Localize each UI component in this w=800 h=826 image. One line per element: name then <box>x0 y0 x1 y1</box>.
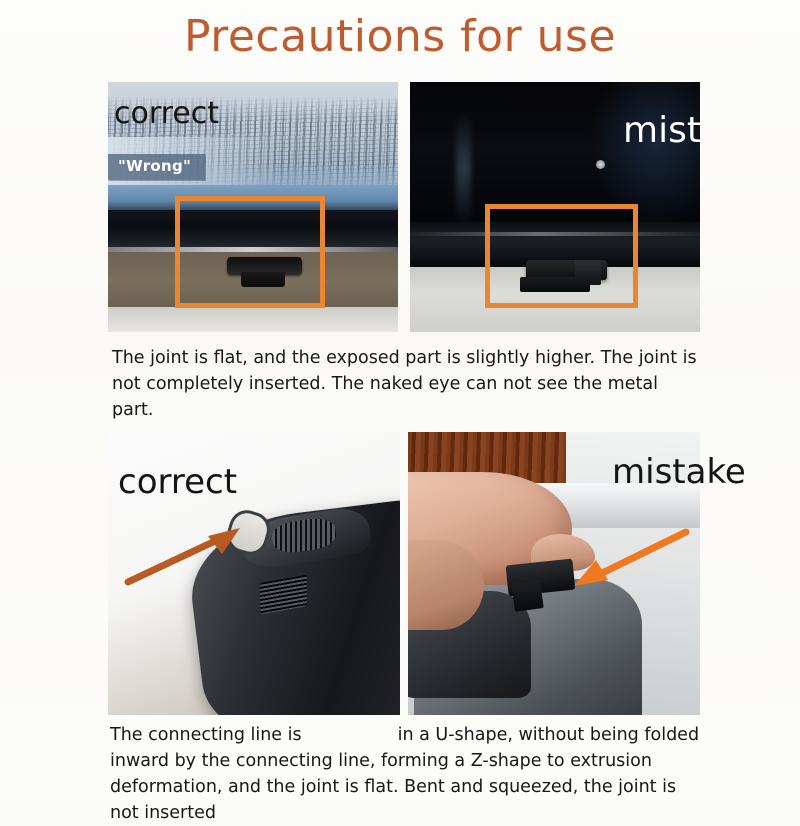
label-mistake-top: mistake <box>623 110 700 151</box>
label-correct-bottom: correct <box>118 462 237 502</box>
wrong-badge: "Wrong" <box>108 154 205 180</box>
arrow-down-left-icon <box>566 524 694 596</box>
highlight-box-top-left <box>175 196 325 308</box>
z-shape-connector-cable <box>511 580 544 612</box>
page-title: Precautions for use <box>0 12 800 62</box>
screen-dot <box>596 160 605 169</box>
arrow-right-icon <box>122 520 252 590</box>
caption-bottom-line1a: The connecting line is <box>110 725 302 745</box>
highlight-box-top-right <box>485 204 638 308</box>
label-correct-top: correct <box>114 96 219 131</box>
caption-bottom: The connecting line isin a U-shape, with… <box>110 722 710 826</box>
label-mistake-bottom: mistake <box>612 452 746 492</box>
caption-top: The joint is flat, and the exposed part … <box>112 345 702 423</box>
floor-surface <box>108 307 398 332</box>
screen-glare-left <box>456 112 471 225</box>
infographic-page: Precautions for use "Wrong" correct mist… <box>0 0 800 800</box>
photo-top-right-mistake: mistake <box>410 82 700 332</box>
